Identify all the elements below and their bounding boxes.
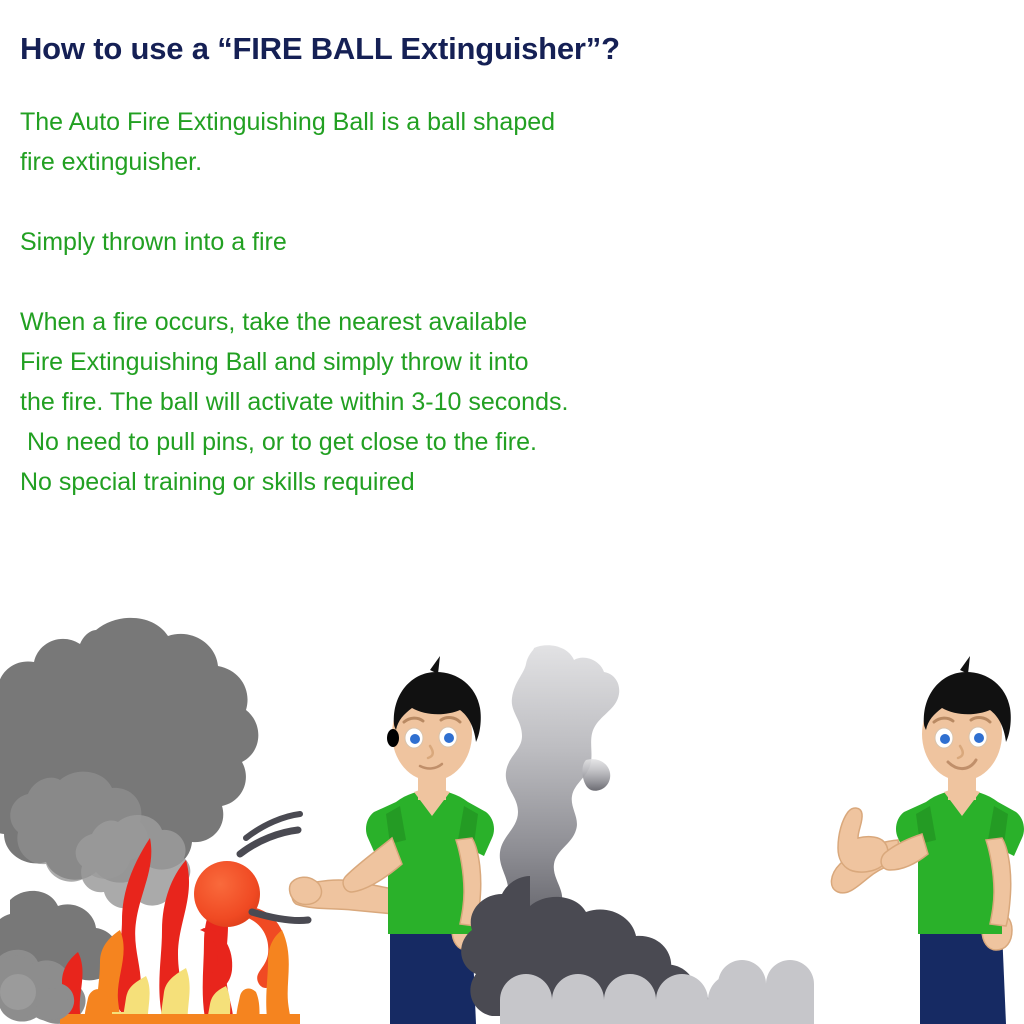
paragraph-definition: The Auto Fire Extinguishing Ball is a ba…: [20, 102, 920, 182]
person-thumbs-up: [831, 656, 1024, 1024]
paragraph-usage: Simply thrown into a fire: [20, 222, 920, 262]
after-panel: [461, 645, 1024, 1024]
before-panel: [0, 618, 494, 1024]
paragraph-instructions: When a fire occurs, take the nearest ava…: [20, 302, 920, 502]
person-throwing: [290, 656, 494, 1024]
page-title: How to use a “FIRE BALL Extinguisher”?: [20, 28, 920, 70]
fire-ball-icon: [194, 861, 260, 927]
slide-canvas: How to use a “FIRE BALL Extinguisher”? T…: [0, 0, 1024, 1024]
text-content-block: How to use a “FIRE BALL Extinguisher”? T…: [20, 28, 920, 502]
illustration-area: [0, 600, 1024, 1024]
